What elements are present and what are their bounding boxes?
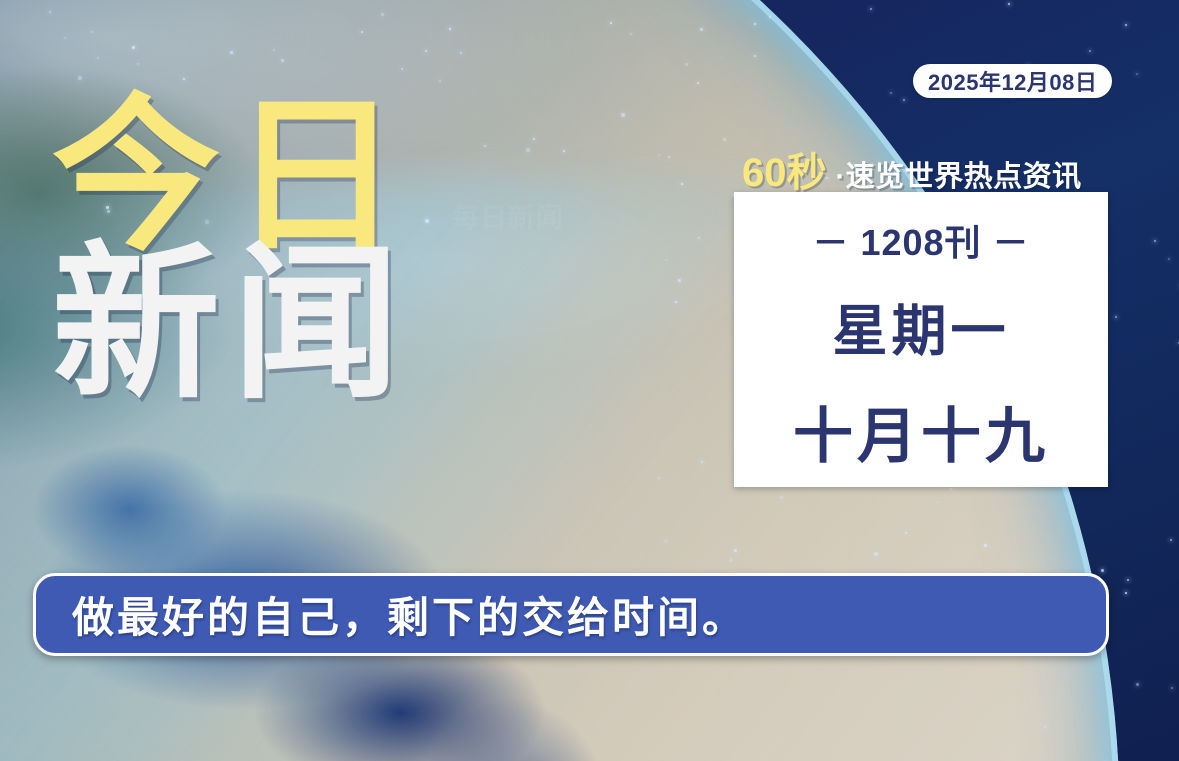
lunar-date-label: 十月十九 — [793, 388, 1049, 475]
quote-banner: 做最好的自己，剩下的交给时间。 — [33, 573, 1109, 656]
tagline: 60秒 ·速览世界热点资讯 — [742, 140, 1082, 198]
page-title: 今日 新闻 — [52, 98, 412, 402]
title-line-xinwen: 新闻 — [52, 246, 412, 402]
tagline-seconds: 60秒 — [742, 140, 827, 198]
news-poster: 每日新闻 今日 新闻 2025年12月08日 60秒 ·速览世界热点资讯 － 1… — [0, 0, 1179, 761]
issue-info-card: － 1208刊 － 星期一 十月十九 — [734, 192, 1108, 487]
weekday-label: 星期一 — [832, 286, 1009, 366]
date-badge: 2025年12月08日 — [913, 64, 1112, 98]
tagline-description: ·速览世界热点资讯 — [836, 153, 1082, 195]
quote-text: 做最好的自己，剩下的交给时间。 — [36, 584, 747, 645]
watermark-text: 每日新闻 — [452, 196, 564, 235]
issue-number: － 1208刊 － — [812, 214, 1029, 266]
